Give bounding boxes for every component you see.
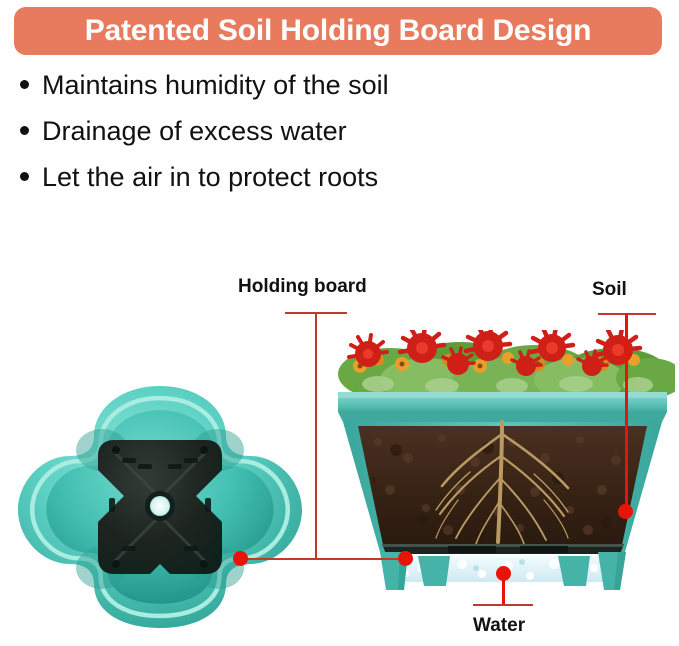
pot-rim [338,392,667,422]
feature-text: Drainage of excess water [42,116,347,147]
clover-planter-top-view-illustration [10,378,310,633]
header-banner: Patented Soil Holding Board Design [14,7,662,55]
infographic-page: Patented Soil Holding Board Design Maint… [0,0,679,646]
feature-text: Maintains humidity of the soil [42,70,389,101]
holding-board-component [98,440,222,574]
connector-dot-board-topview [233,551,248,566]
callout-label-holding-board: Holding board [238,276,367,298]
connector-dot-water [496,566,511,581]
leader-cap-water [473,604,533,606]
feature-text: Let the air in to protect roots [42,162,378,193]
bullet-dot-icon [20,126,29,135]
list-item: Drainage of excess water [20,116,620,162]
feature-list: Maintains humidity of the soil Drainage … [20,70,620,208]
holding-board-plate [382,544,624,554]
callout-label-water: Water [473,615,525,637]
callout-label-soil: Soil [592,279,627,301]
connector-dot-soil [618,504,633,519]
list-item: Maintains humidity of the soil [20,70,620,116]
leader-vertical-holding-board [315,312,317,559]
leader-horizontal-holding-board [240,558,407,560]
list-item: Let the air in to protect roots [20,162,620,208]
leader-vertical-soil [625,313,628,511]
page-title: Patented Soil Holding Board Design [85,14,592,48]
drain-hole-icon [150,496,170,516]
bullet-dot-icon [20,172,29,181]
connector-dot-board-section [398,551,413,566]
bullet-dot-icon [20,80,29,89]
